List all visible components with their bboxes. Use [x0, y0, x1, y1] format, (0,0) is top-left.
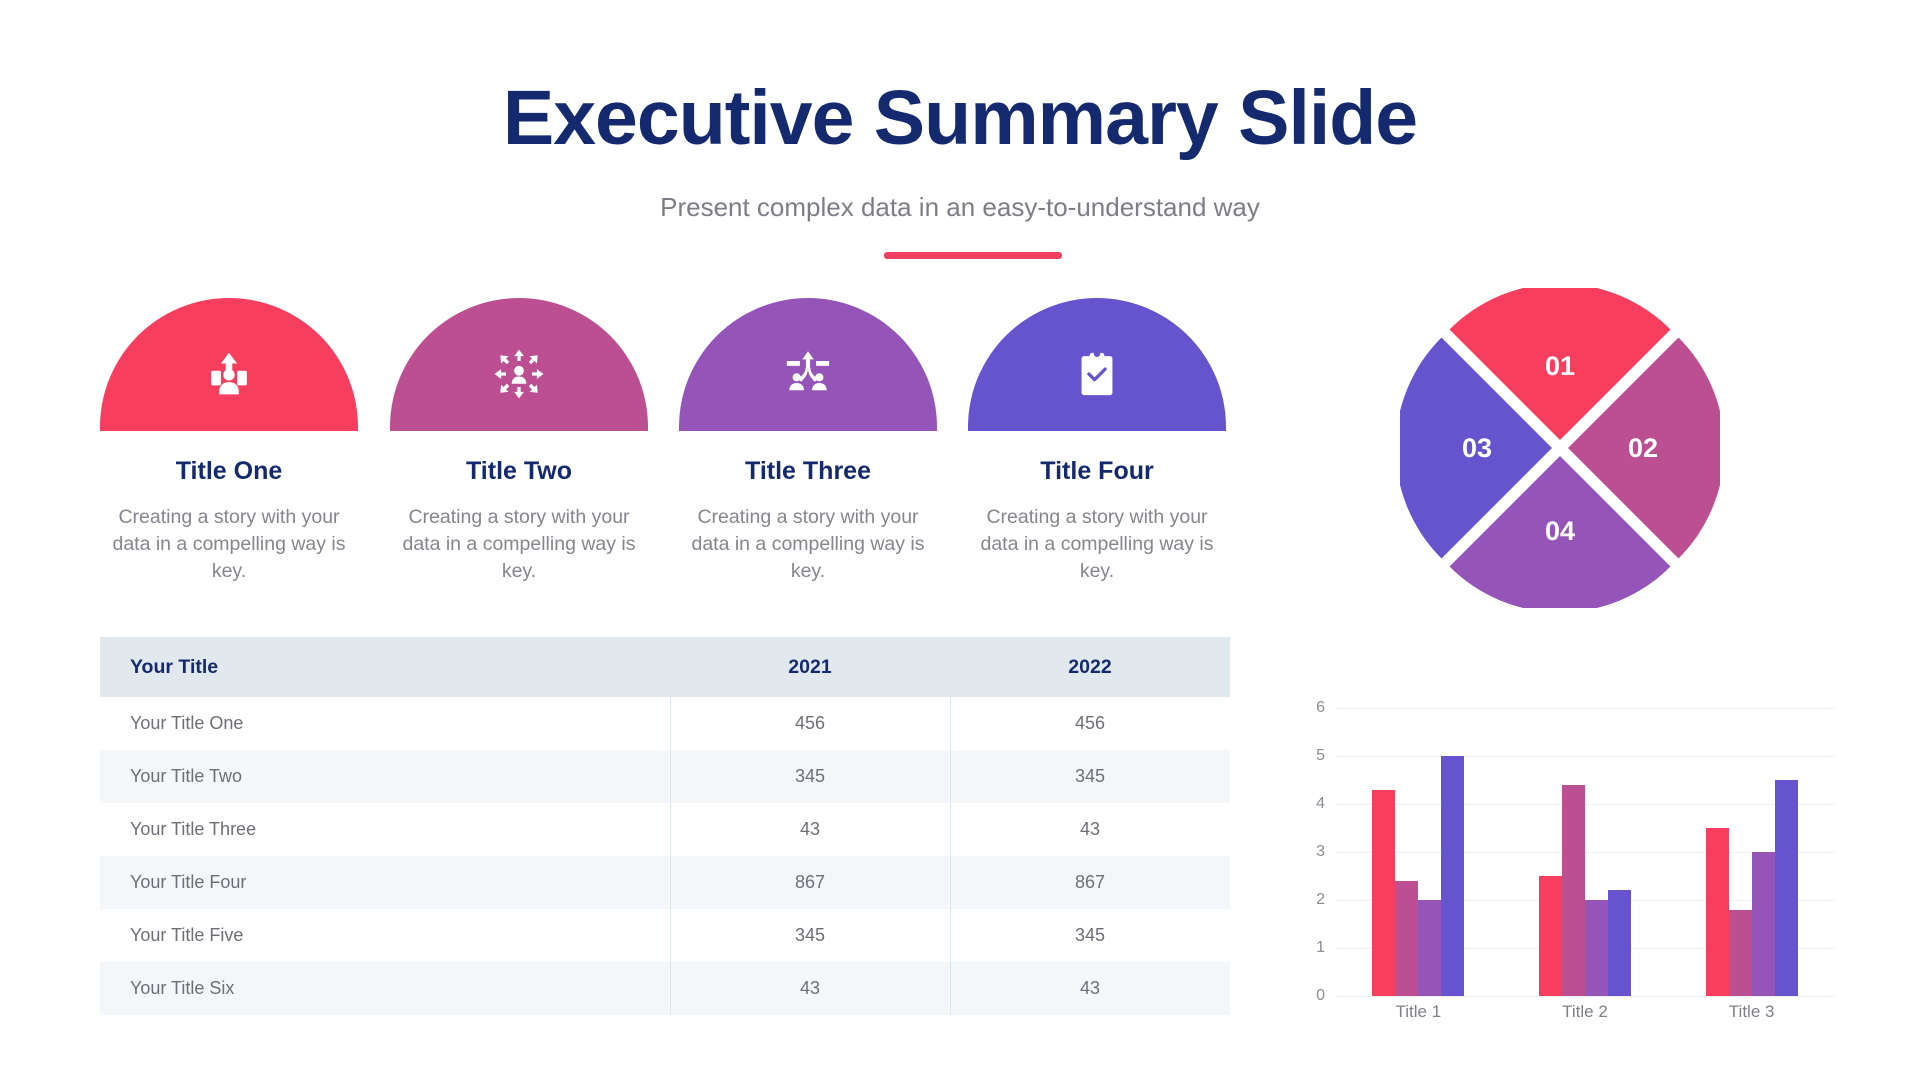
feature-title-three: Title Three — [679, 457, 937, 486]
table-column-divider-2 — [950, 697, 951, 1015]
title-divider — [884, 252, 1062, 259]
table-col-header-2021[interactable]: 2021 — [670, 637, 950, 697]
page-subtitle: Present complex data in an easy-to-under… — [0, 192, 1920, 223]
table-row[interactable]: Your Title Four 867 867 — [100, 856, 1230, 909]
cell-label: Your Title Four — [100, 856, 670, 909]
bar-s1-g2[interactable] — [1539, 876, 1562, 996]
cell-2021: 43 — [670, 962, 950, 1015]
x-label-title-1: Title 1 — [1363, 1002, 1473, 1022]
bar-s1-g1[interactable] — [1372, 790, 1395, 996]
feature-desc-two: Creating a story with your data in a com… — [390, 504, 648, 585]
pie-label-02: 02 — [1628, 433, 1658, 463]
bar-chart-x-labels: Title 1 Title 2 Title 3 — [1335, 1002, 1835, 1022]
bar-chart-plot-area: 6 5 4 3 2 1 0 — [1335, 708, 1835, 996]
y-tick-4: 4 — [1295, 795, 1325, 813]
pie-label-03: 03 — [1462, 433, 1492, 463]
feature-card-two[interactable]: Title Two Creating a story with your dat… — [390, 298, 648, 585]
feature-desc-one: Creating a story with your data in a com… — [100, 504, 358, 585]
slide-canvas: Executive Summary Slide Present complex … — [0, 0, 1920, 1080]
two-people-merge-arrow-icon — [782, 330, 834, 400]
feature-icon-dome-four — [968, 298, 1226, 431]
feature-card-one[interactable]: Title One Creating a story with your dat… — [100, 298, 358, 585]
feature-icon-dome-one — [100, 298, 358, 431]
bar-s3-g2[interactable] — [1585, 900, 1608, 996]
gridline-0: 0 — [1335, 996, 1835, 997]
clipboard-check-icon — [1071, 330, 1123, 400]
cell-label: Your Title One — [100, 697, 670, 750]
feature-title-two: Title Two — [390, 457, 648, 486]
cell-label: Your Title Five — [100, 909, 670, 962]
feature-icon-dome-two — [390, 298, 648, 431]
feature-columns: Title One Creating a story with your dat… — [100, 298, 1240, 598]
bar-s2-g1[interactable] — [1395, 881, 1418, 996]
bar-s2-g3[interactable] — [1729, 910, 1752, 996]
bar-group-title-3 — [1706, 708, 1798, 996]
pie-label-01: 01 — [1545, 351, 1575, 381]
table-column-divider-1 — [670, 697, 671, 1015]
bar-s4-g1[interactable] — [1441, 756, 1464, 996]
table-col-header-title[interactable]: Your Title — [100, 637, 670, 697]
y-tick-0: 0 — [1295, 987, 1325, 1005]
cell-2022: 345 — [950, 909, 1230, 962]
bar-groups — [1335, 708, 1835, 996]
y-tick-1: 1 — [1295, 939, 1325, 957]
feature-desc-three: Creating a story with your data in a com… — [679, 504, 937, 585]
cell-2021: 345 — [670, 909, 950, 962]
cell-2022: 345 — [950, 750, 1230, 803]
feature-card-four[interactable]: Title Four Creating a story with your da… — [968, 298, 1226, 585]
x-label-title-2: Title 2 — [1530, 1002, 1640, 1022]
cell-label: Your Title Two — [100, 750, 670, 803]
cell-2021: 867 — [670, 856, 950, 909]
summary-table[interactable]: Your Title 2021 2022 Your Title One 456 … — [100, 637, 1230, 1015]
table-header-row: Your Title 2021 2022 — [100, 637, 1230, 697]
table-row[interactable]: Your Title Six 43 43 — [100, 962, 1230, 1015]
feature-icon-dome-three — [679, 298, 937, 431]
cell-2022: 867 — [950, 856, 1230, 909]
table-row[interactable]: Your Title Five 345 345 — [100, 909, 1230, 962]
table-row[interactable]: Your Title One 456 456 — [100, 697, 1230, 750]
bar-s1-g3[interactable] — [1706, 828, 1729, 996]
feature-title-four: Title Four — [968, 457, 1226, 486]
table-row[interactable]: Your Title Two 345 345 — [100, 750, 1230, 803]
page-title: Executive Summary Slide — [0, 78, 1920, 159]
feature-desc-four: Creating a story with your data in a com… — [968, 504, 1226, 585]
y-tick-3: 3 — [1295, 843, 1325, 861]
bar-s3-g3[interactable] — [1752, 852, 1775, 996]
bar-s4-g3[interactable] — [1775, 780, 1798, 996]
x-label-title-3: Title 3 — [1697, 1002, 1807, 1022]
feature-title-one: Title One — [100, 457, 358, 486]
cell-2021: 43 — [670, 803, 950, 856]
cell-2022: 43 — [950, 803, 1230, 856]
table-row[interactable]: Your Title Three 43 43 — [100, 803, 1230, 856]
bar-s3-g1[interactable] — [1418, 900, 1441, 996]
person-arrow-up-icon — [203, 330, 255, 400]
cell-2022: 456 — [950, 697, 1230, 750]
grouped-bar-chart[interactable]: 6 5 4 3 2 1 0 — [1290, 700, 1850, 1020]
cell-2021: 456 — [670, 697, 950, 750]
cell-2022: 43 — [950, 962, 1230, 1015]
feature-card-three[interactable]: Title Three Creating a story with your d… — [679, 298, 937, 585]
cell-2021: 345 — [670, 750, 950, 803]
cell-label: Your Title Three — [100, 803, 670, 856]
table-col-header-2022[interactable]: 2022 — [950, 637, 1230, 697]
pie-label-04: 04 — [1545, 516, 1575, 546]
cell-label: Your Title Six — [100, 962, 670, 1015]
y-tick-6: 6 — [1295, 699, 1325, 717]
y-tick-2: 2 — [1295, 891, 1325, 909]
quarter-wheel-chart[interactable]: 01 02 03 04 — [1400, 288, 1720, 608]
bar-group-title-2 — [1539, 708, 1631, 996]
y-tick-5: 5 — [1295, 747, 1325, 765]
bar-group-title-1 — [1372, 708, 1464, 996]
bar-s2-g2[interactable] — [1562, 785, 1585, 996]
person-radiating-arrows-icon — [493, 330, 545, 400]
bar-s4-g2[interactable] — [1608, 890, 1631, 996]
